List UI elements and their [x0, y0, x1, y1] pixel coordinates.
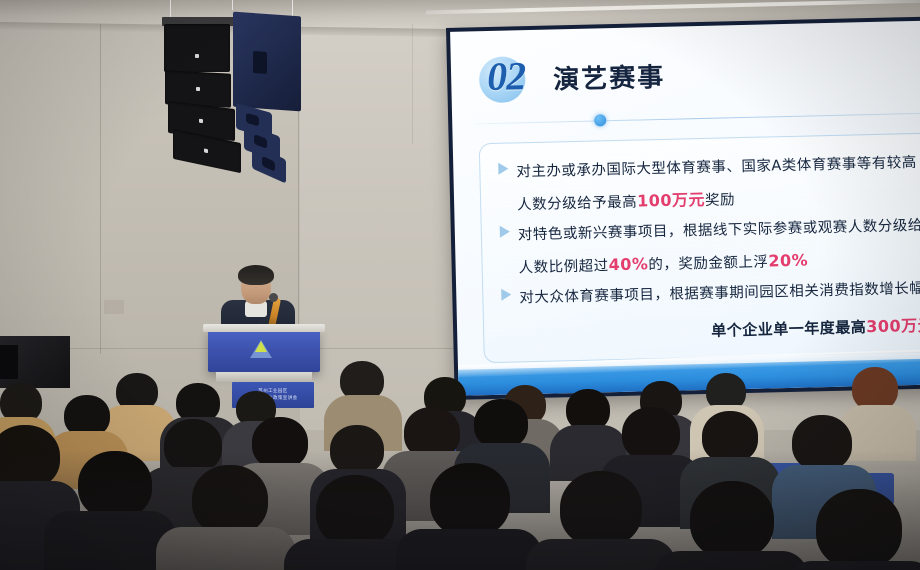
speaker-led: [195, 54, 199, 58]
audience: [0, 355, 920, 570]
slide-footer-prefix: 单个企业单一年度最高: [711, 318, 866, 340]
section-number: 02: [487, 52, 526, 100]
person-head: [474, 399, 528, 449]
slide-footer: 单个企业单一年度最高300万元: [711, 312, 920, 341]
section-number-badge: 02: [479, 50, 542, 107]
conference-photo-scene: 02 演艺赛事 对主办或承办国际大型体育赛事、国家A类体育赛事等有较高 人数分级…: [0, 0, 920, 570]
bullet-subline-suffix: 奖励: [705, 192, 735, 209]
bullet-highlight: 100万元: [637, 190, 705, 211]
wall-seam: [100, 24, 101, 354]
bullet-subline-prefix: 人数分级给予最高: [517, 195, 637, 214]
bullet-subline-prefix: 人数比例超过: [518, 258, 608, 276]
bullet-highlight-2: 20%: [768, 251, 808, 271]
speaker-led: [196, 87, 200, 91]
divider-dot-icon: [594, 114, 606, 126]
speaker-port: [253, 51, 267, 74]
presentation-slide: 02 演艺赛事 对主办或承办国际大型体育赛事、国家A类体育赛事等有较高 人数分级…: [450, 21, 920, 396]
slide-footer-highlight: 300万元: [866, 316, 920, 337]
bullet-subline-mid: 的，奖励金额上浮: [648, 254, 768, 273]
triangle-arrow-icon: [501, 289, 511, 301]
speaker-led: [204, 148, 208, 153]
triangle-arrow-icon: [498, 163, 508, 175]
slide-title: 演艺赛事: [553, 56, 666, 96]
subwoofer-cabinet: [233, 12, 301, 112]
wall-seam: [412, 24, 413, 144]
speaker-handle: [262, 156, 275, 172]
logo-triangle-inner: [255, 341, 267, 352]
microphone-head-icon: [269, 293, 278, 302]
speaker-cabinet: [164, 24, 230, 72]
content-card: 对主办或承办国际大型体育赛事、国家A类体育赛事等有较高 人数分级给予最高100万…: [479, 132, 920, 363]
wall-patch: [104, 300, 124, 314]
bullet-list: 对主办或承办国际大型体育赛事、国家A类体育赛事等有较高 人数分级给予最高100万…: [498, 147, 920, 316]
speaker-led: [199, 119, 203, 123]
presenter-hair: [238, 265, 274, 285]
podium-top-surface: [203, 324, 325, 332]
bullet-highlight: 40%: [608, 254, 648, 274]
projection-screen: 02 演艺赛事 对主办或承办国际大型体育赛事、国家A类体育赛事等有较高 人数分级…: [446, 17, 920, 400]
screen-frame: 02 演艺赛事 对主办或承办国际大型体育赛事、国家A类体育赛事等有较高 人数分级…: [446, 17, 920, 400]
rigging-wire: [232, 0, 233, 10]
triangle-arrow-icon: [500, 226, 510, 238]
slide-title-row: 02 演艺赛事: [479, 47, 666, 107]
divider-line: [474, 113, 920, 125]
line-array-speaker-cluster: [140, 0, 330, 200]
rigging-wire: [170, 0, 171, 18]
audience-shadow-overlay: [0, 450, 920, 570]
